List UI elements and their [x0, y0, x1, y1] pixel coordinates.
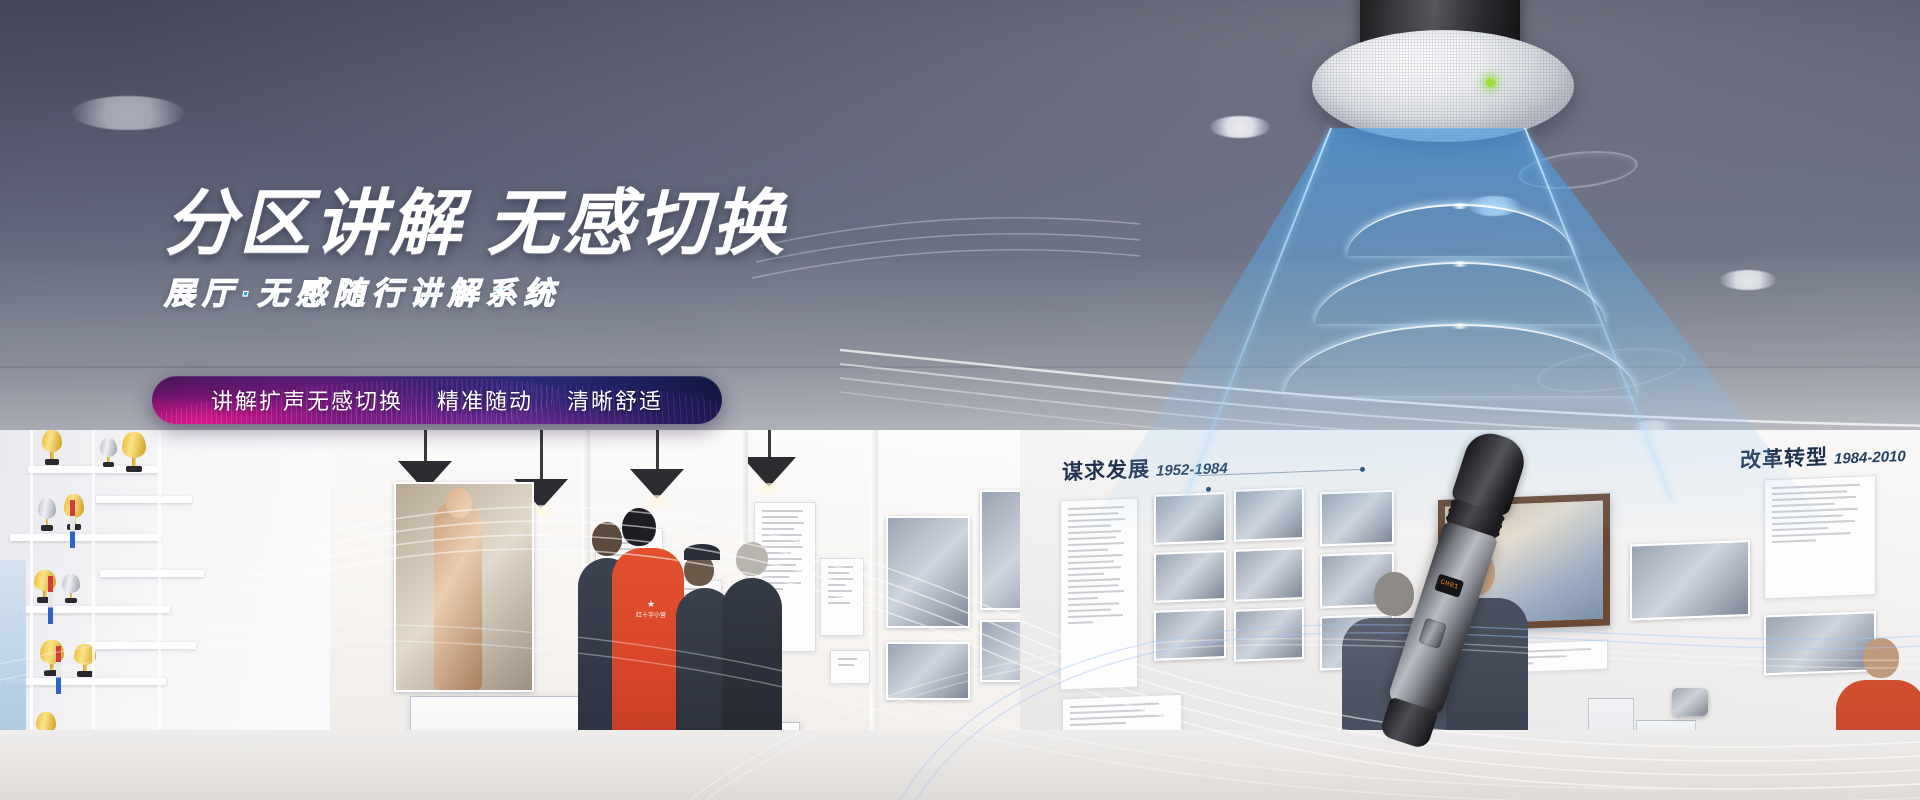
speaker-mesh-texture [1312, 30, 1574, 142]
exhibit-photo [886, 516, 970, 628]
pendant-lamp-icon [742, 430, 796, 495]
trophy-icon [38, 498, 56, 532]
info-panel [830, 650, 870, 684]
speaker-status-led [1486, 78, 1495, 87]
info-panel [820, 558, 864, 636]
visitor-figure [722, 542, 782, 760]
promo-banner: ★红十字小营 谋求发展1952-1984 改革转型1984-2010 [0, 0, 1920, 800]
statue-head [446, 488, 472, 518]
wall-section-years: 1984-2010 [1834, 448, 1906, 468]
speaker-grille-dome [1312, 30, 1574, 142]
headline-text: 分区讲解 无感切换 [164, 186, 964, 262]
pendant-lamp-icon [630, 430, 684, 507]
trophy-icon [62, 574, 80, 604]
headline-block: 分区讲解 无感切换 展厅·无感随行讲解系统 [164, 186, 964, 313]
feature-item-2: 精准随动 [437, 384, 533, 416]
exhibit-object [1672, 688, 1708, 716]
hall-floor [0, 730, 1920, 800]
trophy-icon [100, 438, 117, 468]
exhibit-photo [886, 642, 970, 700]
subheadline-text: 展厅·无感随行讲解系统 [164, 268, 964, 313]
feature-item-1: 讲解扩声无感切换 [211, 384, 403, 416]
downlight-icon [72, 96, 184, 130]
visitor-figure-red-vest: ★红十字小营 [612, 508, 684, 758]
feature-item-3: 清晰舒适 [567, 384, 663, 416]
statue-figure [434, 500, 482, 690]
trophy-icon [42, 430, 62, 466]
feature-pill: 讲解扩声无感切换 精准随动 清晰舒适 [152, 376, 722, 424]
trophy-icon [122, 432, 146, 474]
